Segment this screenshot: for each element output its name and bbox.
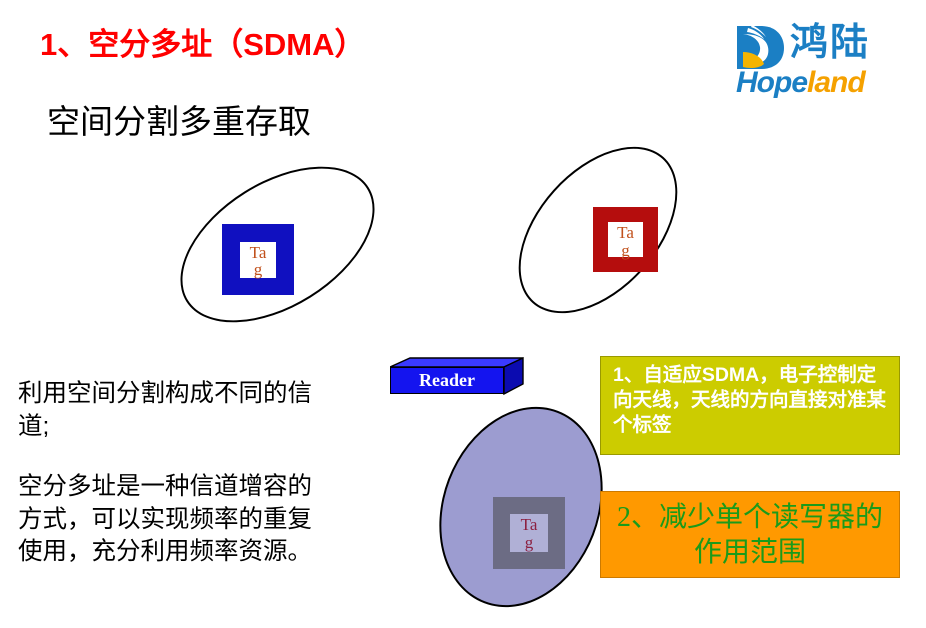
logo-english-text: Hopeland	[736, 68, 865, 98]
reader-label: Reader	[419, 370, 475, 391]
hopeland-logo-mark-icon	[734, 22, 786, 72]
tag-red-label: Tag	[615, 224, 637, 260]
hopeland-logo: 鸿陆 Hopeland	[734, 22, 898, 100]
logo-english-part-b: land	[807, 66, 865, 99]
body-paragraph-2: 空分多址是一种信道增容的方式，可以实现频率的重复使用，充分利用频率资源。	[18, 471, 318, 569]
logo-chinese-text: 鸿陆	[790, 20, 870, 68]
slide-canvas: 1、空分多址（SDMA） 空间分割多重存取 鸿陆 Hopeland Tag Ta…	[0, 0, 926, 628]
tag-blue: Tag	[222, 224, 294, 295]
logo-english-part-a: Hope	[736, 66, 807, 99]
page-title: 1、空分多址（SDMA）	[40, 28, 366, 62]
tag-blue-label: Tag	[247, 244, 269, 280]
callout-reduce-range-text: 2、减少单个读写器的作用范围	[611, 500, 889, 570]
tag-gray-label: Tag	[518, 516, 540, 552]
tag-red: Tag	[593, 207, 658, 272]
page-subtitle: 空间分割多重存取	[47, 104, 311, 140]
reader-front-face: Reader	[390, 367, 504, 394]
tag-gray: Tag	[493, 497, 565, 569]
reader-device: Reader	[390, 357, 524, 395]
tag-gray-inner: Tag	[510, 514, 548, 552]
callout-sdma-adaptive-text: 1、自适应SDMA，电子控制定向天线，天线的方向直接对准某个标签	[613, 363, 889, 438]
tag-red-inner: Tag	[608, 222, 643, 257]
body-text-block: 利用空间分割构成不同的信道; 空分多址是一种信道增容的方式，可以实现频率的重复使…	[18, 378, 318, 569]
body-paragraph-1: 利用空间分割构成不同的信道;	[18, 378, 318, 443]
callout-reduce-range: 2、减少单个读写器的作用范围	[600, 491, 900, 578]
tag-blue-inner: Tag	[240, 242, 276, 278]
callout-sdma-adaptive: 1、自适应SDMA，电子控制定向天线，天线的方向直接对准某个标签	[600, 356, 900, 455]
